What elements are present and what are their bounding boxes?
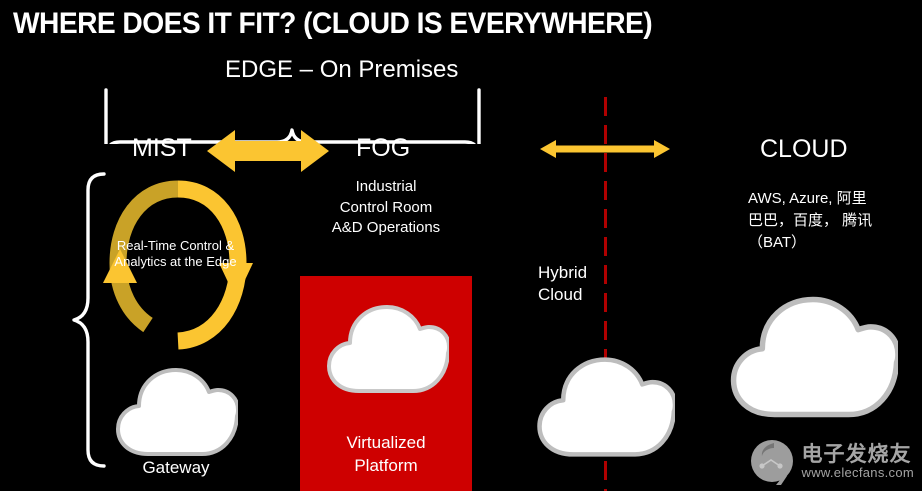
mist-cloud-caption: Gateway	[114, 458, 238, 478]
mist-heading: MIST	[132, 134, 192, 163]
cloud-icon	[728, 294, 898, 420]
double-arrow-thin-icon	[540, 138, 670, 160]
fog-heading: FOG	[356, 134, 410, 163]
watermark-chinese: 电子发烧友	[802, 444, 914, 465]
mist-cycle-label-line1: Real-Time Control &	[88, 238, 263, 254]
hybrid-cloud-label: Hybrid Cloud	[538, 262, 608, 307]
elecfans-logo-icon	[748, 437, 796, 485]
edge-bracket-label: EDGE – On Premises	[225, 56, 458, 84]
fog-detail-0: Industrial	[296, 177, 476, 198]
cloud-icon	[325, 303, 449, 395]
double-arrow-icon	[207, 127, 329, 175]
slide-canvas: WHERE DOES IT FIT? (CLOUD IS EVERYWHERE)…	[0, 0, 922, 491]
mist-cycle-label: Real-Time Control & Analytics at the Edg…	[88, 238, 263, 271]
virtualized-platform-label-line1: Virtualized	[300, 432, 472, 454]
cloud-providers-line1: AWS, Azure, 阿里	[748, 188, 918, 210]
fog-details: Industrial Control Room A&D Operations	[296, 177, 476, 239]
cloud-heading: CLOUD	[760, 135, 848, 164]
fog-detail-1: Control Room	[296, 198, 476, 219]
watermark-text: 电子发烧友 www.elecfans.com	[802, 444, 914, 479]
virtualized-platform-label-line2: Platform	[300, 455, 472, 477]
cloud-icon	[114, 366, 238, 458]
cloud-providers-line3: （BAT）	[748, 232, 918, 254]
cloud-icon	[535, 355, 675, 459]
mist-cycle-label-line2: Analytics at the Edge	[88, 254, 263, 270]
cloud-providers: AWS, Azure, 阿里 巴巴，百度， 腾讯 （BAT）	[748, 188, 918, 253]
fog-detail-2: A&D Operations	[296, 218, 476, 239]
watermark: 电子发烧友 www.elecfans.com	[748, 437, 914, 485]
cloud-providers-line2: 巴巴，百度， 腾讯	[748, 210, 918, 232]
watermark-url: www.elecfans.com	[802, 466, 914, 479]
hybrid-cloud-label-line2: Cloud	[538, 284, 608, 306]
virtualized-platform-label: Virtualized Platform	[300, 432, 472, 477]
virtualized-platform-panel[interactable]: Virtualized Platform	[300, 276, 472, 491]
hybrid-cloud-label-line1: Hybrid	[538, 262, 608, 284]
page-title: WHERE DOES IT FIT? (CLOUD IS EVERYWHERE)	[13, 7, 652, 41]
